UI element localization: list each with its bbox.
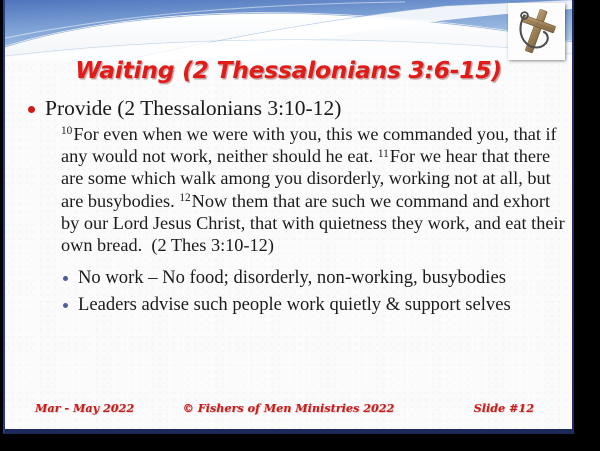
main-bullet-item: Provide (2 Thessalonians 3:10-12): [25, 96, 570, 121]
bullet-dot-icon: [28, 106, 35, 113]
cross-and-anchor-logo: [508, 3, 565, 60]
sub-bullet-list: No work – No food; disorderly, non-worki…: [25, 265, 570, 319]
footer-divider-rule: [5, 429, 572, 432]
footer-slide-number: Slide #12: [474, 401, 534, 415]
sub-bullet-item: Leaders advise such people work quietly …: [61, 292, 570, 319]
verse-number-11: 11: [378, 148, 390, 160]
slide-footer: Mar - May 2022 © Fishers of Men Ministri…: [5, 401, 572, 419]
verse-number-10: 10: [61, 125, 73, 137]
verse-number-12: 12: [179, 192, 191, 204]
sub-bullet-item: No work – No food; disorderly, non-worki…: [61, 265, 570, 292]
presentation-slide: Waiting (2 Thessalonians 3:6-15) Provide…: [0, 0, 600, 451]
slide-body: Provide (2 Thessalonians 3:10-12) 10For …: [25, 96, 570, 319]
bullet-dot-icon: [63, 276, 68, 281]
scripture-reference: (2 Thes 3:10-12): [151, 235, 274, 255]
slide-title: Waiting (2 Thessalonians 3:6-15): [5, 56, 572, 84]
sub-bullet-label: Leaders advise such people work quietly …: [78, 294, 511, 315]
slide-canvas: Waiting (2 Thessalonians 3:6-15) Provide…: [3, 0, 574, 434]
main-bullet-label: Provide (2 Thessalonians 3:10-12): [45, 96, 341, 120]
sub-bullet-label: No work – No food; disorderly, non-worki…: [78, 267, 506, 288]
bullet-dot-icon: [63, 303, 68, 308]
header-wave-banner: [5, 0, 572, 60]
scripture-passage: 10For even when we were with you, this w…: [25, 123, 570, 255]
